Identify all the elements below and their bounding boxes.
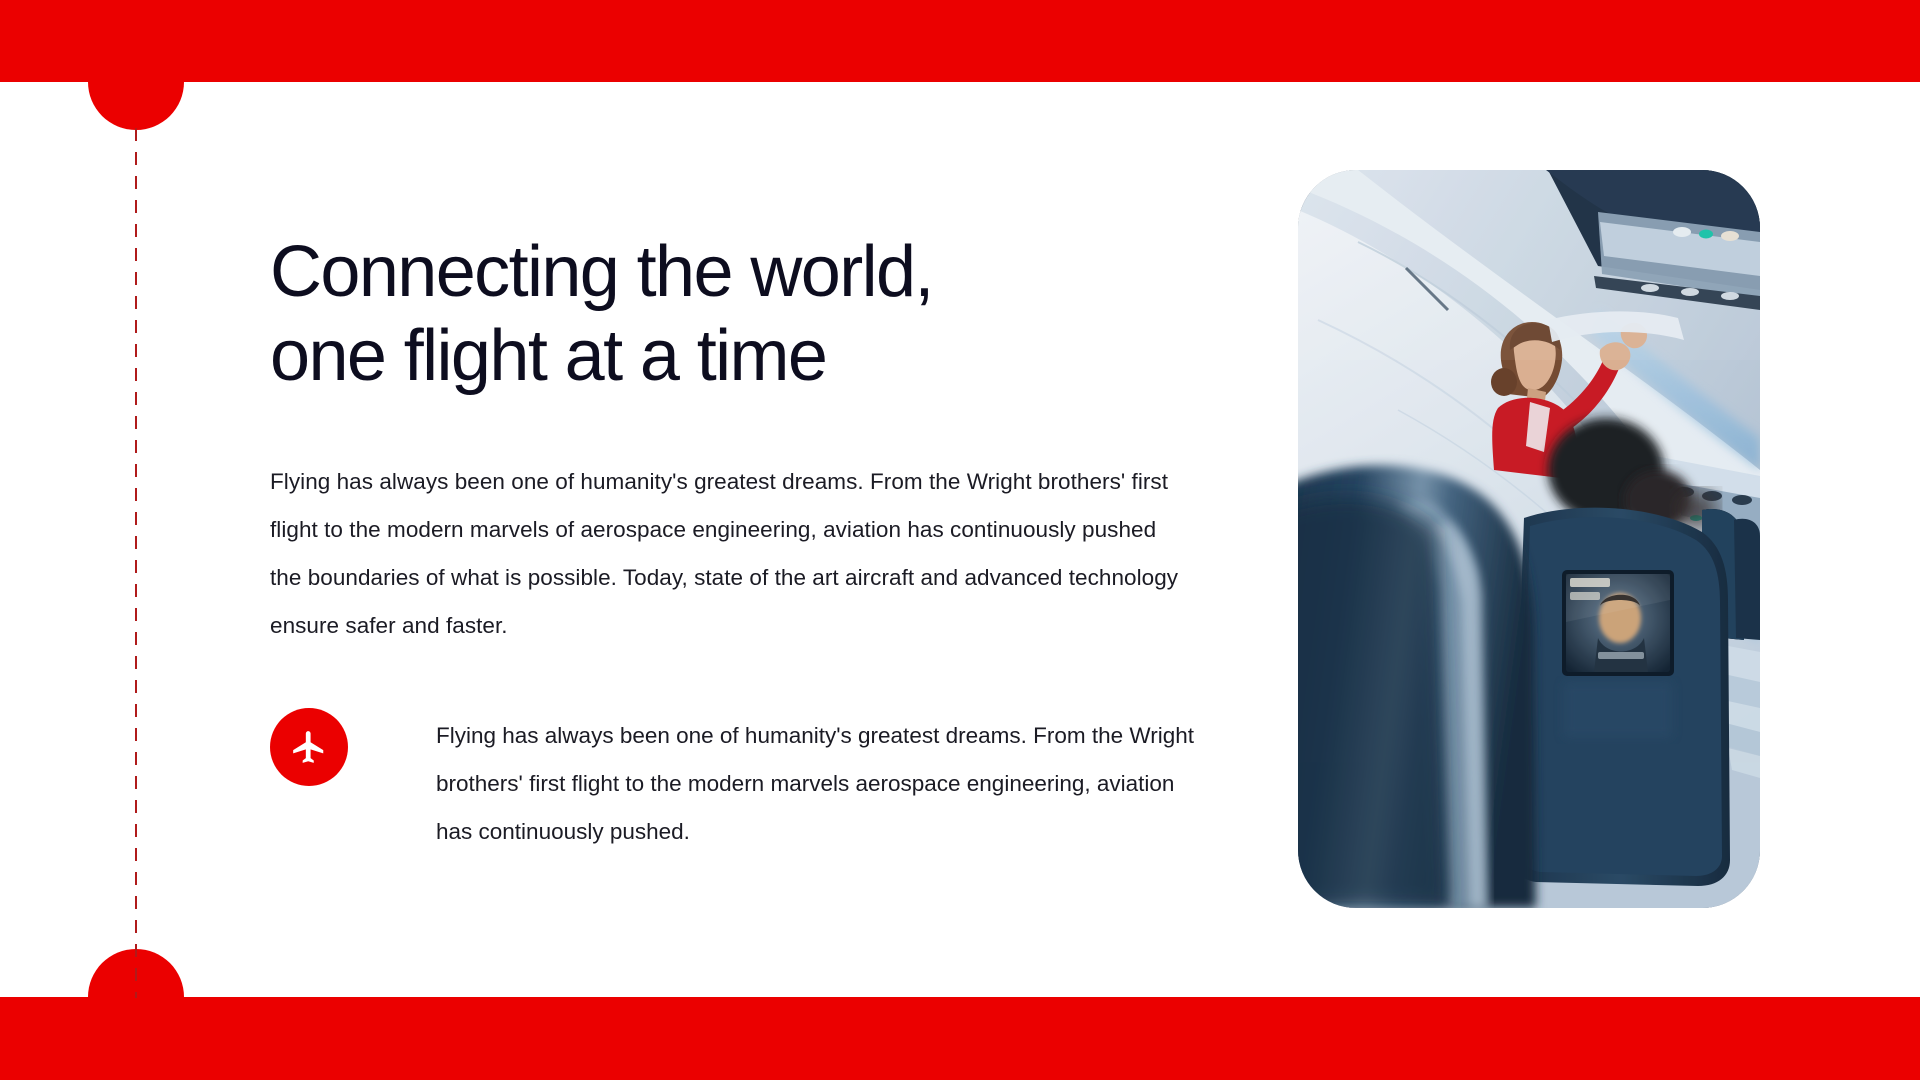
airplane-icon [290,728,328,766]
dashed-connector-line [135,128,137,998]
feature-paragraph: Flying has always been one of humanity's… [436,708,1200,856]
feature-icon-badge [270,708,348,786]
content-column: Connecting the world, one flight at a ti… [270,230,1200,856]
cabin-photo [1298,170,1760,908]
lead-paragraph: Flying has always been one of humanity's… [270,458,1180,650]
slide: Connecting the world, one flight at a ti… [0,0,1920,1080]
top-red-knob [88,82,184,130]
page-title: Connecting the world, one flight at a ti… [270,230,1200,398]
feature-block: Flying has always been one of humanity's… [270,708,1200,856]
bottom-red-bar [0,997,1920,1080]
top-red-bar [0,0,1920,82]
